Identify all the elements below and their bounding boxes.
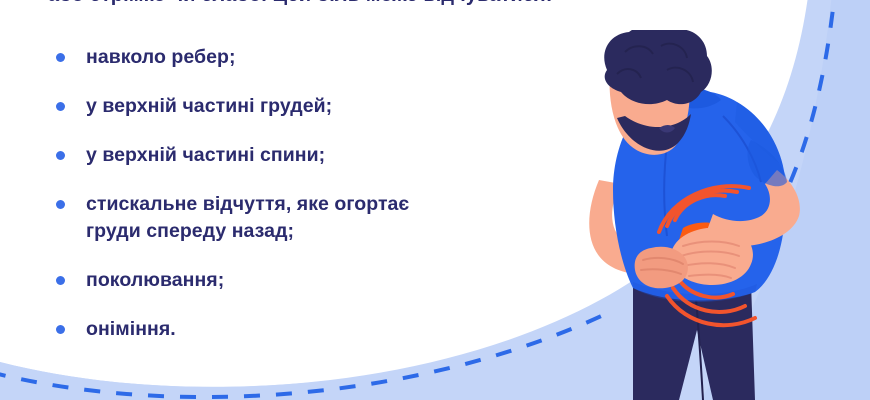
man-with-chest-pain-illustration (555, 30, 835, 400)
list-item-line-1: оніміння. (86, 318, 176, 340)
bullet-dot-icon (56, 102, 65, 111)
bullet-dot-icon (56, 200, 65, 209)
list-item: оніміння. (48, 316, 548, 343)
symptom-list: навколо ребер; у верхній частині грудей;… (48, 44, 548, 343)
list-item-line-1: поколювання; (86, 269, 224, 291)
left-hand-shape (635, 247, 688, 289)
bullet-dot-icon (56, 325, 65, 334)
list-item-line-1: у верхній частині грудей; (86, 95, 332, 117)
list-item-line-2: груди спереду назад; (86, 218, 548, 245)
list-item-line-1: навколо ребер; (86, 46, 236, 68)
list-item: у верхній частині спини; (48, 142, 548, 169)
list-item: поколювання; (48, 267, 548, 294)
list-item: стискальне відчуття, яке огортає груди с… (48, 191, 548, 245)
bullet-dot-icon (56, 151, 65, 160)
list-item-line-1: у верхній частині спини; (86, 144, 325, 166)
bullet-dot-icon (56, 276, 65, 285)
bullet-dot-icon (56, 53, 65, 62)
list-item: навколо ребер; (48, 44, 548, 71)
infographic-slide: або стрімко чи слабо. Цей біль може відч… (0, 0, 870, 400)
page-title: або стрімко чи слабо. Цей біль може відч… (48, 0, 608, 6)
list-item-line-1: стискальне відчуття, яке огортає (86, 193, 409, 215)
list-item: у верхній частині грудей; (48, 93, 548, 120)
